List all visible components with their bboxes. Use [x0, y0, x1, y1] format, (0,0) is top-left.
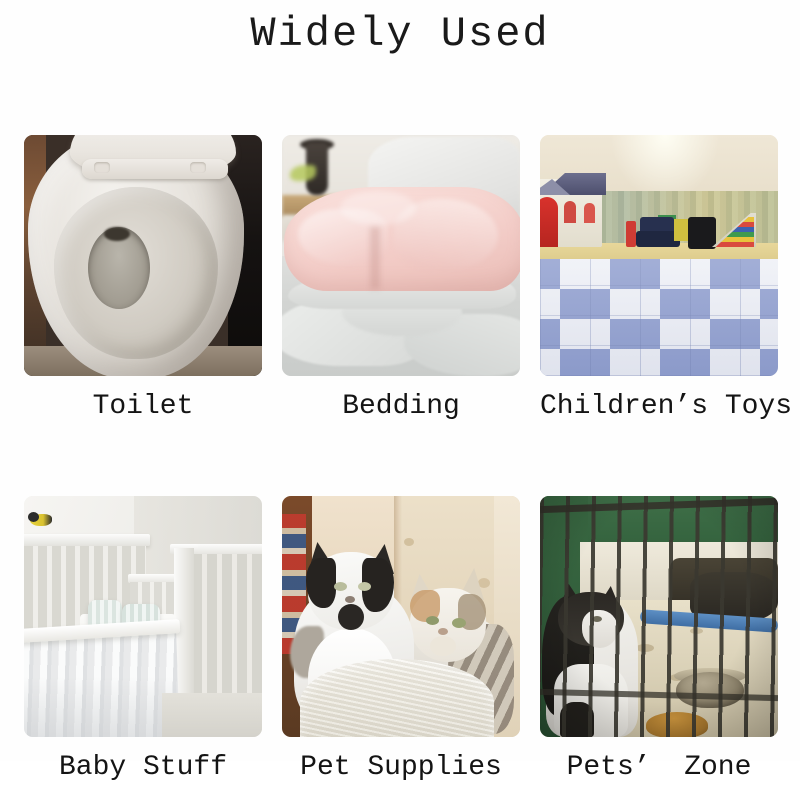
caption-childrens-toys: Children’s Toys	[540, 390, 778, 424]
toilet-lid-bumper-left	[94, 162, 110, 173]
calico-cat-chin	[430, 636, 456, 656]
caption-toilet: Toilet	[24, 390, 262, 424]
caption-pets-zone: Pets’ Zone	[540, 751, 778, 785]
pet-supplies-photo	[282, 496, 520, 737]
playhouse-red-door	[540, 197, 558, 247]
toilet-drain-hole	[104, 227, 130, 241]
childrens-toys-photo	[540, 135, 778, 376]
baby-stuff-photo	[24, 496, 262, 737]
tuxedo-cat-eye-left	[334, 582, 347, 591]
bedding-photo	[282, 135, 520, 376]
pets-zone-photo	[540, 496, 778, 737]
toy-red-block	[626, 221, 636, 247]
page-title: Widely Used	[0, 6, 800, 62]
tuxedo-cat-mask-left	[306, 558, 336, 608]
grid-cell-pets-zone[interactable]: Pets’ Zone	[540, 496, 778, 785]
grid-cell-toilet[interactable]: Toilet	[24, 135, 262, 424]
calico-cat-eye-right	[452, 618, 466, 628]
grid-row-2: Baby Stuff	[24, 496, 778, 785]
yellow-bird-head	[28, 512, 39, 522]
bedding-pink-crease	[370, 227, 380, 289]
grid-row-1: Toilet	[24, 135, 778, 424]
toilet-photo	[24, 135, 262, 376]
nursery-floor	[162, 693, 262, 737]
grid-cell-bedding[interactable]: Bedding	[282, 135, 520, 424]
caption-bedding: Bedding	[282, 390, 520, 424]
bedding-pink-highlight	[340, 191, 416, 225]
grid-cell-pet-supplies[interactable]: Pet Supplies	[282, 496, 520, 785]
caption-pet-supplies: Pet Supplies	[282, 751, 520, 785]
grid-cell-childrens-toys[interactable]: Children’s Toys	[540, 135, 778, 424]
grid-cell-baby-stuff[interactable]: Baby Stuff	[24, 496, 262, 785]
tuxedo-cat-chin-patch	[338, 604, 364, 630]
tuxedo-cat-nose	[345, 596, 355, 603]
crib-slats-right	[192, 554, 262, 694]
playhouse-window-left	[564, 201, 576, 223]
use-case-grid: Toilet	[24, 135, 778, 785]
cat-bed-texture	[300, 659, 494, 737]
crib-rail-back	[24, 534, 150, 546]
playhouse-window-right	[584, 203, 595, 223]
toy-black-bag	[688, 217, 716, 249]
crib-skirt-shadow	[24, 677, 178, 737]
bedding-green-leaf	[290, 165, 316, 181]
foam-mat-shading	[540, 259, 778, 376]
calico-cat-eye-left	[426, 616, 439, 625]
cage-vignette	[540, 496, 778, 737]
caption-baby-stuff: Baby Stuff	[24, 751, 262, 785]
toilet-lid-bumper-right	[190, 162, 206, 173]
wall-mark-1	[404, 538, 414, 546]
calico-cat-nose	[438, 628, 448, 635]
widely-used-poster: Widely Used Toilet	[0, 0, 800, 761]
tuxedo-cat-eye-right	[358, 582, 371, 591]
